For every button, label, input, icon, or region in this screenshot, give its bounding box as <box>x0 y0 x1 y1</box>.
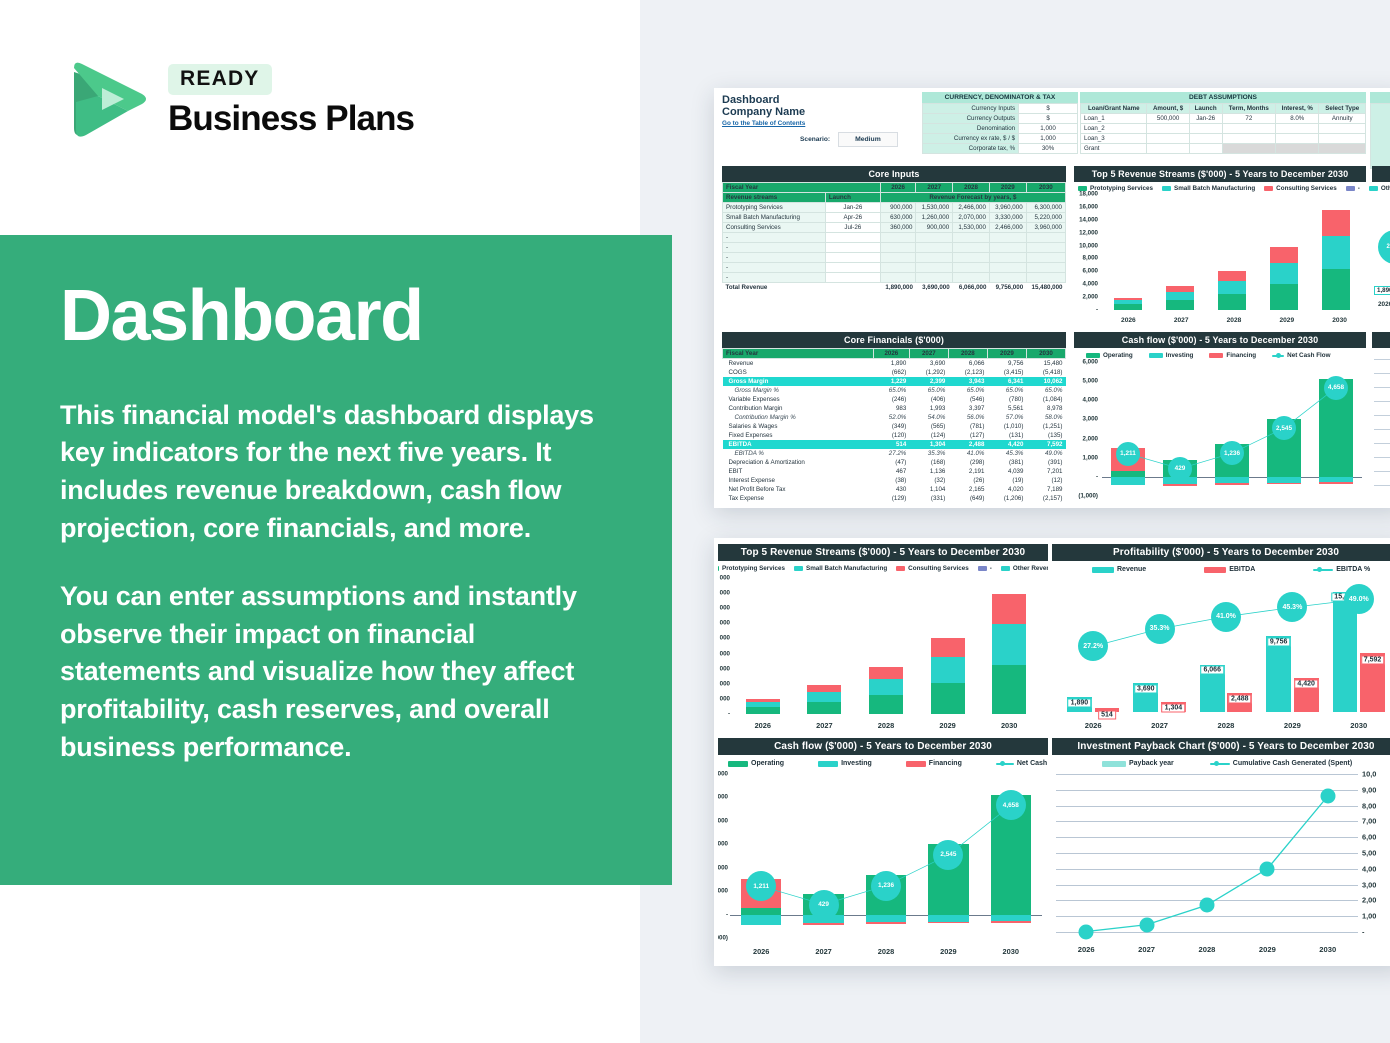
bar-segment <box>1322 269 1351 310</box>
data-label-bubble: 27.2% <box>1078 631 1108 661</box>
bar-segment <box>1166 300 1195 310</box>
table-row: Corporate tax, %30% <box>923 144 1078 154</box>
table-total-row: Total Revenue1,890,0003,690,0006,066,000… <box>723 283 1066 293</box>
legend-label: Cumulative Cash Generated (Spent) <box>1233 760 1352 767</box>
currency-denominator-tax-block: CURRENCY, DENOMINATOR & TAX Currency Inp… <box>922 92 1078 154</box>
table-row: Salaries & Wages(349)(565)(781)(1,010)(1… <box>723 422 1066 431</box>
legend-label: Prototyping Services <box>722 565 785 572</box>
axis-tick: 000 <box>720 620 730 627</box>
gridline <box>1374 373 1390 374</box>
gridline <box>1374 471 1390 472</box>
bar-segment <box>1322 236 1351 270</box>
axis-tick: 12,000 <box>1079 229 1098 236</box>
chart-title-profitability: Profitability ($'000) - 5 Years to Decem… <box>1052 544 1390 561</box>
play-triangle-logo-icon <box>62 58 150 144</box>
chart-revenue-streams-top: Top 5 Revenue Streams ($'000) - 5 Years … <box>1074 166 1366 326</box>
brand-name: Business Plans <box>168 99 414 139</box>
axis-tick: 8,000 <box>1083 255 1098 262</box>
legend-label: Revenue <box>1117 566 1146 573</box>
table-row: COGS(662)(1,292)(2,123)(3,415)(5,418) <box>723 368 1066 377</box>
data-point-marker <box>1320 789 1335 804</box>
axis-tick: 2030 <box>1341 721 1378 730</box>
axis-tick: 18,000 <box>1079 191 1098 198</box>
axis-tick: 10,0 <box>1362 770 1376 779</box>
table-row: Fixed Expenses(120)(124)(127)(131)(135) <box>723 431 1066 440</box>
axis-tick: 2028 <box>869 721 903 730</box>
data-label: 1,890 <box>1374 286 1390 295</box>
gridline <box>1374 401 1390 402</box>
axis-tick: 6,000 <box>718 771 728 778</box>
bar-segment <box>931 657 965 683</box>
brand-badge: READY <box>168 64 272 95</box>
table-row: Loan_3 <box>1081 134 1366 144</box>
chart-investment-payback: Investment Payback Chart ($'000) - 5 Yea… <box>1052 738 1390 960</box>
axis-tick: 5,000 <box>718 794 728 801</box>
gridline <box>1374 415 1390 416</box>
table-header-row: Loan/Grant NameAmount, $LaunchTerm, Mont… <box>1081 104 1366 114</box>
chart-title-payback: Investment Payback Chart ($'000) - 5 Yea… <box>1052 738 1390 755</box>
bar-column <box>1322 194 1351 310</box>
axis-tick: 5,000 <box>1083 378 1098 385</box>
legend-label: Prototyping Services <box>1090 185 1153 192</box>
axis-tick: 2028 <box>1208 721 1245 730</box>
table-row: EBITDA %27.2%35.3%41.0%45.3%49.0% <box>723 449 1066 458</box>
bar-segment <box>1322 210 1351 236</box>
legend-label: Payback year <box>1129 760 1174 767</box>
axis-tick: 3,00 <box>1362 880 1376 889</box>
table-row: Tax Expense(129)(331)(649)(1,206)(2,157) <box>723 494 1066 503</box>
axis-tick: 000 <box>720 650 730 657</box>
partial-panel-top-right: 27.2% 1,890 2026 <box>1372 166 1390 326</box>
data-point-marker <box>1200 898 1215 913</box>
table-row: - <box>723 253 1066 263</box>
axis-tick: 2030 <box>994 947 1028 956</box>
axis-tick: 2026 <box>1114 317 1143 324</box>
table-header-row: Fiscal Year20262027202820292030 <box>723 349 1066 359</box>
axis-tick: 2026 <box>744 947 778 956</box>
data-point-marker <box>1079 924 1094 939</box>
bar-segment <box>1218 281 1247 294</box>
legend-label: Investing <box>841 760 872 767</box>
hero-panel: Dashboard This financial model's dashboa… <box>0 235 672 885</box>
legend-label: Small Batch Manufacturing <box>806 565 887 572</box>
donut-bubble: 27.2% <box>1378 230 1390 264</box>
table-row: Grant <box>1081 144 1366 154</box>
axis-tick: - <box>1096 307 1098 314</box>
net-cash-flow-line <box>1102 362 1362 496</box>
table-row: - <box>723 273 1066 283</box>
legend-cash-flow: Operating Investing Financing Net Cash F… <box>1074 348 1366 359</box>
axis-tick: 2026 <box>746 721 780 730</box>
gridline <box>1056 932 1358 933</box>
table-row: Contribution Margin9831,9933,3975,5618,9… <box>723 404 1066 413</box>
legend-label: EBITDA % <box>1336 566 1370 573</box>
legend-label: - <box>990 565 992 572</box>
table-row: Loan_1500,000Jan-26728.0%Annuity <box>1081 114 1366 124</box>
axis-tick: 3,000 <box>718 841 728 848</box>
axis-tick: 000 <box>720 575 730 582</box>
hero-paragraph-2: You can enter assumptions and instantly … <box>60 578 616 767</box>
chart-revenue-streams-bottom: Top 5 Revenue Streams ($'000) - 5 Years … <box>718 544 1048 734</box>
data-label-bubble: 35.3% <box>1145 614 1175 644</box>
bar-segment <box>1270 263 1299 284</box>
axis-tick: (1,000) <box>1078 493 1098 500</box>
legend-revenue-streams-2: Prototyping Services Small Batch Manufac… <box>718 561 1048 572</box>
axis-tick: 14,000 <box>1079 216 1098 223</box>
table-row: Prototyping ServicesJan-26900,0001,530,0… <box>723 203 1066 213</box>
axis-tick: 2,000 <box>718 864 728 871</box>
legend-label: - <box>1358 185 1360 192</box>
chart-profitability: Profitability ($'000) - 5 Years to Decem… <box>1052 544 1390 734</box>
bar-segment <box>992 665 1026 714</box>
axis-tick: 2029 <box>931 947 965 956</box>
core-financials-header: Core Financials ($'000) <box>722 332 1066 348</box>
legend-label: EBITDA <box>1229 566 1255 573</box>
axis-tick: - <box>728 711 730 718</box>
table-row: Gross Margin %65.0%65.0%65.0%65.0%65.0% <box>723 386 1066 395</box>
legend-label: Net Cash Flow <box>1287 352 1330 359</box>
table-row: Small Batch ManufacturingApr-26630,0001,… <box>723 213 1066 223</box>
legend-label: Consulting Services <box>1276 185 1337 192</box>
chart-cash-flow-top: Cash flow ($'000) - 5 Years to December … <box>1074 332 1366 502</box>
gridline <box>1374 457 1390 458</box>
debt-block-header: DEBT ASSUMPTIONS <box>1080 92 1366 103</box>
gridline <box>1374 429 1390 430</box>
data-label-bubble: 4,658 <box>1324 376 1348 400</box>
table-row: Gross Margin1,2292,3993,9436,34110,062 <box>723 377 1066 386</box>
axis-tick: 000 <box>720 665 730 672</box>
axis-tick: 8,00 <box>1362 801 1376 810</box>
data-label-bubble: 41.0% <box>1211 602 1241 632</box>
table-row: Consulting ServicesJul-26360,000900,0001… <box>723 223 1066 233</box>
axis-tick: 1,000 <box>718 888 728 895</box>
axis-tick: 2026 <box>1378 301 1390 308</box>
legend-label: Consulting Services <box>908 565 969 572</box>
table-header-row: Fiscal Year20262027202820292030 <box>723 183 1066 193</box>
legend-cash-flow-2: Operating Investing Financing Net Cash F… <box>718 755 1048 767</box>
bar-segment <box>1218 294 1247 310</box>
data-label-bubble: 1,211 <box>1116 442 1140 466</box>
axis-tick: 2029 <box>1272 317 1301 324</box>
data-label-bubble: 429 <box>1168 457 1192 481</box>
gridline <box>1374 485 1390 486</box>
chart-cash-flow-bottom: Cash flow ($'000) - 5 Years to December … <box>718 738 1048 960</box>
axis-tick: 1,00 <box>1362 912 1376 921</box>
bar-segment <box>1166 292 1195 300</box>
axis-tick: 2029 <box>1274 721 1311 730</box>
data-point-marker <box>1139 917 1154 932</box>
axis-tick: 4,000 <box>1083 281 1098 288</box>
gridline <box>1374 443 1390 444</box>
axis-tick: 2027 <box>1167 317 1196 324</box>
currency-block-header: CURRENCY, DENOMINATOR & TAX <box>922 92 1078 103</box>
dashboard-screenshot-top: Dashboard Company Name Go to the Table o… <box>714 88 1390 508</box>
bar-segment <box>807 692 841 702</box>
bar-column <box>746 578 780 714</box>
bar-segment <box>869 679 903 695</box>
axis-tick: 6,000 <box>1083 359 1098 366</box>
axis-tick: 2030 <box>1325 317 1354 324</box>
bar-column <box>1166 194 1195 310</box>
bar-segment <box>807 685 841 692</box>
chart-title-revenue-streams-2: Top 5 Revenue Streams ($'000) - 5 Years … <box>718 544 1048 561</box>
axis-tick: 000 <box>720 605 730 612</box>
bar-segment <box>746 707 780 714</box>
axis-tick: 2027 <box>1130 945 1163 954</box>
table-row: Depreciation & Amortization(47)(168)(298… <box>723 458 1066 467</box>
axis-tick: 2029 <box>1251 945 1284 954</box>
bar-column <box>1114 194 1143 310</box>
axis-tick: 000 <box>720 695 730 702</box>
legend-label: Investing <box>1166 352 1194 359</box>
data-point-marker <box>1260 861 1275 876</box>
axis-tick: 2,000 <box>1083 294 1098 301</box>
legend-label: Net Cash Flow <box>1017 760 1048 767</box>
bar-segment <box>992 624 1026 665</box>
axis-tick: 2029 <box>931 721 965 730</box>
table-row: - <box>723 263 1066 273</box>
axis-tick: 000 <box>720 635 730 642</box>
debt-assumptions-block: DEBT ASSUMPTIONS Loan/Grant NameAmount, … <box>1080 92 1366 154</box>
data-label-bubble: 4,658 <box>996 790 1026 820</box>
axis-tick: 2,000 <box>1083 435 1098 442</box>
axis-tick: 2026 <box>1075 721 1112 730</box>
axis-tick: - <box>1096 473 1098 480</box>
scenario-select[interactable]: Medium <box>838 132 898 147</box>
bar-column <box>807 578 841 714</box>
axis-tick: 2,00 <box>1362 896 1376 905</box>
axis-tick: 6,000 <box>1083 268 1098 275</box>
gridline <box>1374 359 1390 360</box>
table-row: Currency ex rate, $ / $1,000 <box>923 134 1078 144</box>
axis-tick: 10,000 <box>1079 242 1098 249</box>
table-row: - <box>723 233 1066 243</box>
core-inputs-header: Core Inputs <box>722 166 1066 182</box>
scenario-label: Scenario: <box>800 136 830 143</box>
axis-tick: 7,00 <box>1362 817 1376 826</box>
bar-column <box>869 578 903 714</box>
legend-label: Operating <box>751 760 784 767</box>
axis-tick: - <box>726 911 728 918</box>
axis-tick: 16,000 <box>1079 203 1098 210</box>
bar-segment <box>869 667 903 679</box>
axis-tick: 6,00 <box>1362 833 1376 842</box>
axis-tick: 4,000 <box>1083 397 1098 404</box>
table-row: Net Profit Before Tax4301,1042,1654,0207… <box>723 485 1066 494</box>
legend-label: Financing <box>1226 352 1256 359</box>
dashboard-screenshot-bottom: Top 5 Revenue Streams ($'000) - 5 Years … <box>714 538 1390 966</box>
gridline <box>1374 387 1390 388</box>
axis-tick: 9,00 <box>1362 785 1376 794</box>
bar-segment <box>931 638 965 657</box>
legend-label: Other Revenue <box>1013 565 1048 572</box>
table-row: Denomination1,000 <box>923 124 1078 134</box>
bar-segment <box>869 695 903 714</box>
axis-tick: 2027 <box>1141 721 1178 730</box>
data-label-bubble: 2,545 <box>1272 416 1296 440</box>
working-capital-header: WOR <box>1370 92 1390 103</box>
legend-label: Operating <box>1103 352 1133 359</box>
bar-segment <box>992 594 1026 625</box>
net-cash-flow-line <box>730 774 1042 938</box>
bar-segment <box>1218 271 1247 281</box>
bar-segment <box>1270 284 1299 310</box>
toc-link[interactable]: Go to the Table of Contents <box>722 120 805 127</box>
data-label-bubble: 2,545 <box>933 840 963 870</box>
axis-tick: 2026 <box>1070 945 1103 954</box>
data-label-bubble: 1,236 <box>1220 441 1244 465</box>
bar-column <box>1270 194 1299 310</box>
legend-profitability: Revenue EBITDA EBITDA % <box>1052 561 1390 573</box>
axis-tick: 000 <box>720 680 730 687</box>
axis-tick: 2028 <box>1219 317 1248 324</box>
axis-tick: (1,000) <box>718 935 728 942</box>
axis-tick: 4,00 <box>1362 864 1376 873</box>
bar-segment <box>807 702 841 714</box>
table-row: Interest Expense(38)(32)(26)(19)(12) <box>723 476 1066 485</box>
hero-paragraph-1: This financial model's dashboard display… <box>60 397 616 548</box>
table-row: Revenue1,8903,6906,0669,75615,480 <box>723 359 1066 369</box>
table-row: Loan_2 <box>1081 124 1366 134</box>
bar-column <box>992 578 1026 714</box>
partial-chart-title: Inve <box>1372 332 1390 348</box>
working-capital-block: WOR <box>1370 92 1390 169</box>
axis-tick: 3,000 <box>1083 416 1098 423</box>
legend-revenue-streams: Prototyping Services Small Batch Manufac… <box>1074 182 1366 192</box>
chart-title-revenue-streams: Top 5 Revenue Streams ($'000) - 5 Years … <box>1074 166 1366 182</box>
table-row: EBITDA5141,3042,4884,4207,592 <box>723 440 1066 449</box>
axis-tick: - <box>1362 928 1364 937</box>
axis-tick: 4,000 <box>718 817 728 824</box>
bar-segment <box>931 683 965 714</box>
axis-tick: 5,00 <box>1362 849 1376 858</box>
table-subheader-row: Revenue streamsLaunchRevenue Forecast by… <box>723 193 1066 203</box>
table-row: Currency Outputs$ <box>923 114 1078 124</box>
axis-tick: 2030 <box>1311 945 1344 954</box>
table-row: Contribution Margin %52.0%54.0%56.0%57.0… <box>723 413 1066 422</box>
bar-segment <box>1114 304 1143 310</box>
legend-payback: Payback year Cumulative Cash Generated (… <box>1052 755 1390 767</box>
partial-panel-invest: Inve <box>1372 332 1390 502</box>
data-label-bubble: 429 <box>809 890 839 920</box>
chart-title-cash-flow: Cash flow ($'000) - 5 Years to December … <box>1074 332 1366 348</box>
core-financials-panel: Core Financials ($'000) Fiscal Year20262… <box>722 332 1066 503</box>
bar-segment <box>1270 247 1299 263</box>
sheet-title: Dashboard <box>722 94 805 106</box>
table-row: - <box>723 243 1066 253</box>
axis-tick: 2027 <box>806 947 840 956</box>
data-label-bubble: 45.3% <box>1277 592 1307 622</box>
data-label-bubble: 1,236 <box>871 871 901 901</box>
axis-tick: 000 <box>720 590 730 597</box>
axis-tick: 1,000 <box>1083 454 1098 461</box>
table-row: Variable Expenses(246)(406)(546)(780)(1,… <box>723 395 1066 404</box>
legend-label: Small Batch Manufacturing <box>1174 185 1255 192</box>
bar-column <box>1218 194 1247 310</box>
table-row: EBIT4671,1362,1914,0397,201 <box>723 467 1066 476</box>
data-label-bubble: 49.0% <box>1344 584 1374 614</box>
ebitda-pct-line <box>1060 580 1390 712</box>
axis-tick: 2028 <box>869 947 903 956</box>
chart-title-cash-flow-2: Cash flow ($'000) - 5 Years to December … <box>718 738 1048 755</box>
table-row: Currency Inputs$ <box>923 104 1078 114</box>
brand-logo: READY Business Plans <box>62 58 414 144</box>
axis-tick: 2030 <box>992 721 1026 730</box>
axis-tick: 2027 <box>807 721 841 730</box>
axis-tick: 2028 <box>1190 945 1223 954</box>
sheet-company: Company Name <box>722 106 805 118</box>
core-inputs-panel: Core Inputs Fiscal Year20262027202820292… <box>722 166 1066 292</box>
page-title: Dashboard <box>60 279 616 355</box>
bar-column <box>931 578 965 714</box>
data-label-bubble: 1,211 <box>746 871 776 901</box>
legend-label: Financing <box>929 760 962 767</box>
